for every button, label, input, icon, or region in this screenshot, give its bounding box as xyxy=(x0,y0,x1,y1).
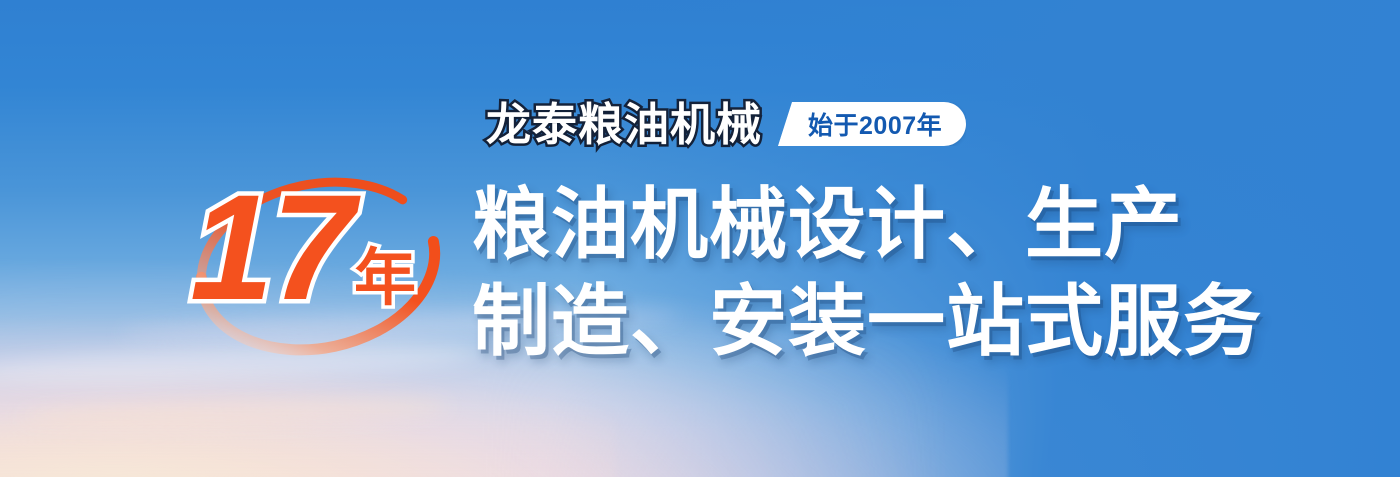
years-badge: 17 年 xyxy=(168,166,468,366)
years-number: 17 xyxy=(190,172,353,322)
headline: 粮油机械设计、生产 制造、安装一站式服务 xyxy=(472,176,1352,369)
brand-name: 龙泰粮油机械 xyxy=(486,102,762,147)
established-badge: 始于2007年 xyxy=(778,102,966,146)
years-unit-label: 年 xyxy=(354,248,416,310)
headline-line-2: 制造、安装一站式服务 xyxy=(472,273,1352,370)
brand-row: 龙泰粮油机械 始于2007年 xyxy=(486,96,966,152)
established-label: 始于2007年 xyxy=(808,106,942,142)
headline-line-1: 粮油机械设计、生产 xyxy=(472,176,1352,273)
promo-banner: 龙泰粮油机械 始于2007年 xyxy=(0,0,1400,477)
